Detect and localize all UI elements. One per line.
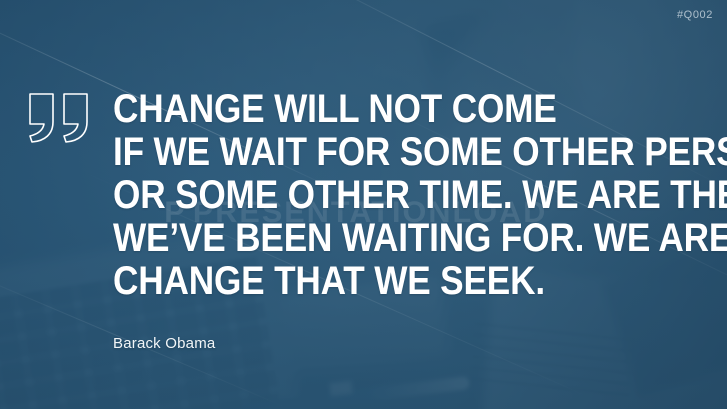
slide-id-label: #Q002 [677,9,713,21]
quote-line: CHANGE WILL NOT COME [113,88,641,131]
double-quote-icon [28,92,94,144]
quote-text: CHANGE WILL NOT COME IF WE WAIT FOR SOME… [113,88,713,303]
quote-author: Barack Obama [113,335,215,352]
quote-line: CHANGE THAT WE SEEK. [113,260,641,303]
quote-slide: PPRESENTATIONLOAD #Q002 CHANGE WILL NOT … [0,0,727,409]
quote-line: OR SOME OTHER TIME. WE ARE THE ONES [113,174,641,217]
slide-content: #Q002 CHANGE WILL NOT COME IF WE WAIT FO… [0,0,727,409]
quote-line: IF WE WAIT FOR SOME OTHER PERSON [113,131,641,174]
quote-line: WE’VE BEEN WAITING FOR. WE ARE THE [113,217,641,260]
